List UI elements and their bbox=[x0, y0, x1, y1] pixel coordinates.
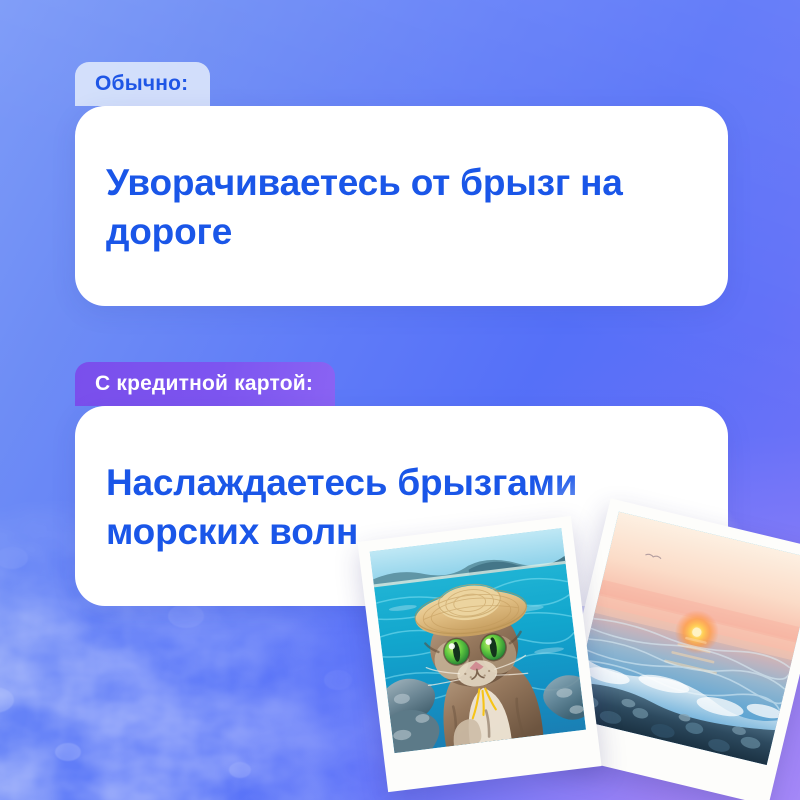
promo-banner: Обычно: Уворачиваетесь от брызг на дорог… bbox=[0, 0, 800, 800]
photo-cat-image bbox=[370, 528, 586, 753]
photo-cat bbox=[357, 516, 601, 792]
photo-sunset-image bbox=[569, 512, 800, 766]
tab-usual: Обычно: bbox=[75, 62, 210, 106]
card-usual: Уворачиваетесь от брызг на дороге bbox=[75, 106, 728, 306]
card-usual-text: Уворачиваетесь от брызг на дороге bbox=[106, 158, 702, 256]
tab-credit-card: С кредитной картой: bbox=[75, 362, 335, 406]
